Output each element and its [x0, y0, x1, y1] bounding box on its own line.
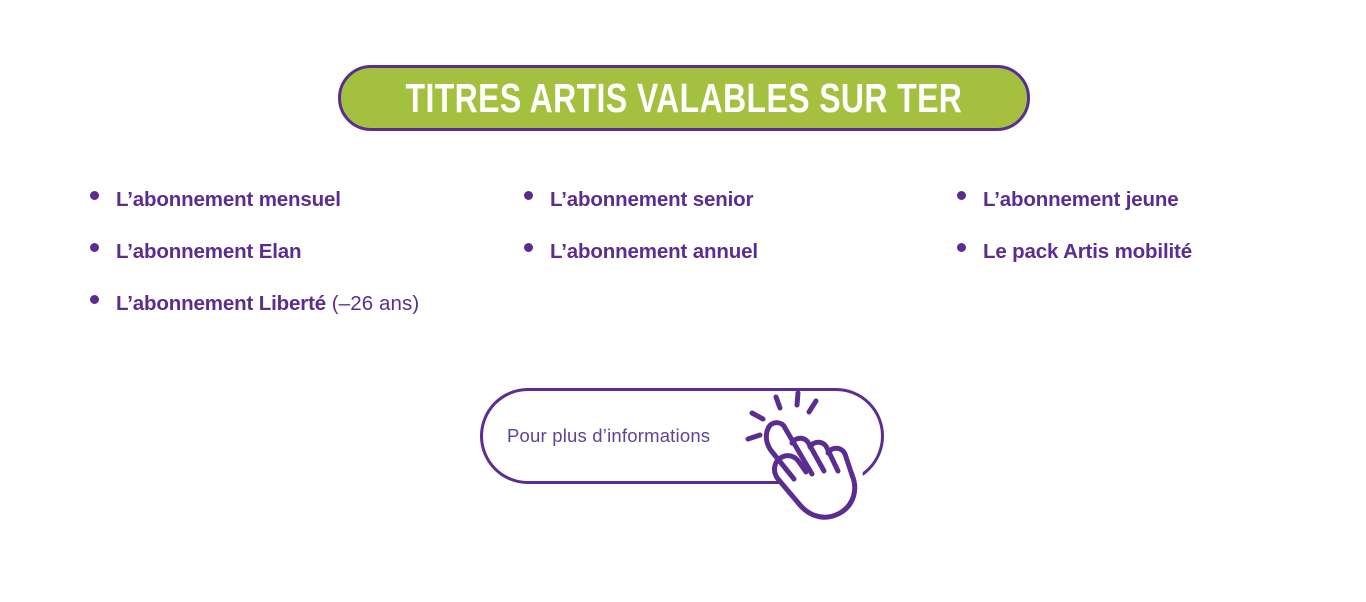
list-item: L’abonnement jeune: [957, 190, 1192, 242]
bullet-dot-icon: [90, 191, 99, 200]
more-info-cta[interactable]: Pour plus d’informations: [478, 385, 890, 525]
ticket-column-1: L’abonnement mensuel L’abonnement Elan L…: [90, 190, 419, 346]
bullet-dot-icon: [524, 191, 533, 200]
list-item-label: L’abonnement Liberté: [116, 292, 326, 315]
list-item: L’abonnement Liberté (–26 ans): [90, 294, 419, 346]
list-item: L’abonnement mensuel: [90, 190, 419, 242]
ticket-column-2: L’abonnement senior L’abonnement annuel: [524, 190, 758, 294]
list-item-label: L’abonnement jeune: [983, 188, 1179, 211]
header-banner: TITRES ARTIS VALABLES SUR TER: [338, 65, 1030, 131]
list-item-label: L’abonnement senior: [550, 188, 753, 211]
bullet-dot-icon: [90, 295, 99, 304]
more-info-button-label: Pour plus d’informations: [507, 425, 710, 447]
list-item-label: L’abonnement mensuel: [116, 188, 341, 211]
page-title: TITRES ARTIS VALABLES SUR TER: [406, 78, 963, 119]
more-info-button[interactable]: Pour plus d’informations: [480, 388, 884, 484]
bullet-dot-icon: [957, 191, 966, 200]
list-item: Le pack Artis mobilité: [957, 242, 1192, 294]
bullet-dot-icon: [957, 243, 966, 252]
bullet-dot-icon: [90, 243, 99, 252]
list-item-label: Le pack Artis mobilité: [983, 240, 1192, 263]
list-item: L’abonnement annuel: [524, 242, 758, 294]
ticket-column-3: L’abonnement jeune Le pack Artis mobilit…: [957, 190, 1192, 294]
list-item-suffix: (–26 ans): [326, 292, 419, 315]
list-item-label: L’abonnement Elan: [116, 240, 301, 263]
bullet-dot-icon: [524, 243, 533, 252]
list-item-label: L’abonnement annuel: [550, 240, 758, 263]
list-item: L’abonnement senior: [524, 190, 758, 242]
list-item: L’abonnement Elan: [90, 242, 419, 294]
